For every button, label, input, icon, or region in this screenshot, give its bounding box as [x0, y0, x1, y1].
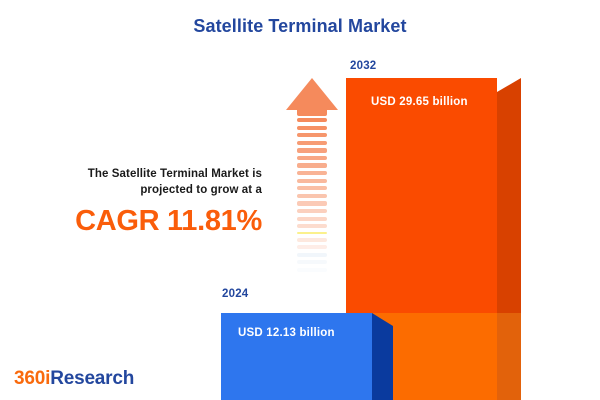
arrow-stripe-icon	[297, 126, 327, 130]
arrow-stripe-icon	[297, 163, 327, 167]
bar-2032-side-lower-face	[497, 313, 521, 400]
arrow-stripe-icon	[297, 133, 327, 137]
arrow-stripe-icon	[297, 186, 327, 190]
brand-logo: 360iResearch	[14, 368, 134, 390]
arrow-neck-icon	[297, 110, 327, 116]
arrow-head-icon	[286, 78, 338, 110]
arrow-stripe-icon	[297, 260, 327, 264]
arrow-stripe-icon	[297, 253, 327, 257]
bar-label-2024: 2024	[222, 288, 248, 300]
arrow-stripe-icon	[297, 179, 327, 183]
arrow-stripe-icon	[297, 201, 327, 205]
arrow-stripe-icon	[297, 224, 327, 228]
arrow-stripe-icon	[297, 209, 327, 213]
cagr-value: CAGR 11.81%	[20, 204, 262, 238]
arrow-stripe-icon	[297, 217, 327, 221]
arrow-stripe-icon	[297, 245, 327, 249]
growth-statement: The Satellite Terminal Market is project…	[20, 166, 262, 238]
arrow-stripe-icon	[297, 148, 327, 152]
page-title: Satellite Terminal Market	[0, 16, 600, 37]
arrow-stripe-icon	[297, 156, 327, 160]
arrow-stripe-icon	[297, 194, 327, 198]
logo-text-research: Research	[50, 368, 134, 389]
arrow-stripe-icon	[297, 141, 327, 145]
arrow-stripe-icon	[297, 118, 327, 122]
arrow-stripe-icon	[297, 238, 327, 242]
growth-arrow-icon	[286, 78, 338, 298]
bar-2024-side-face	[372, 313, 393, 400]
arrow-stripe-icon	[297, 232, 327, 235]
arrow-stripe-icon	[297, 268, 327, 272]
infographic-canvas: Satellite Terminal Market The Satellite …	[0, 0, 600, 400]
bar-value-2024: USD 12.13 billion	[238, 327, 335, 339]
arrow-stripe-icon	[297, 171, 327, 175]
statement-line-2: projected to grow at a	[20, 182, 262, 198]
bar-label-2032: 2032	[350, 60, 376, 72]
arrow-stripes-icon	[297, 118, 327, 296]
statement-line-1: The Satellite Terminal Market is	[20, 166, 262, 182]
logo-text-360i: 360i	[14, 368, 50, 389]
bar-value-2032: USD 29.65 billion	[371, 96, 468, 108]
